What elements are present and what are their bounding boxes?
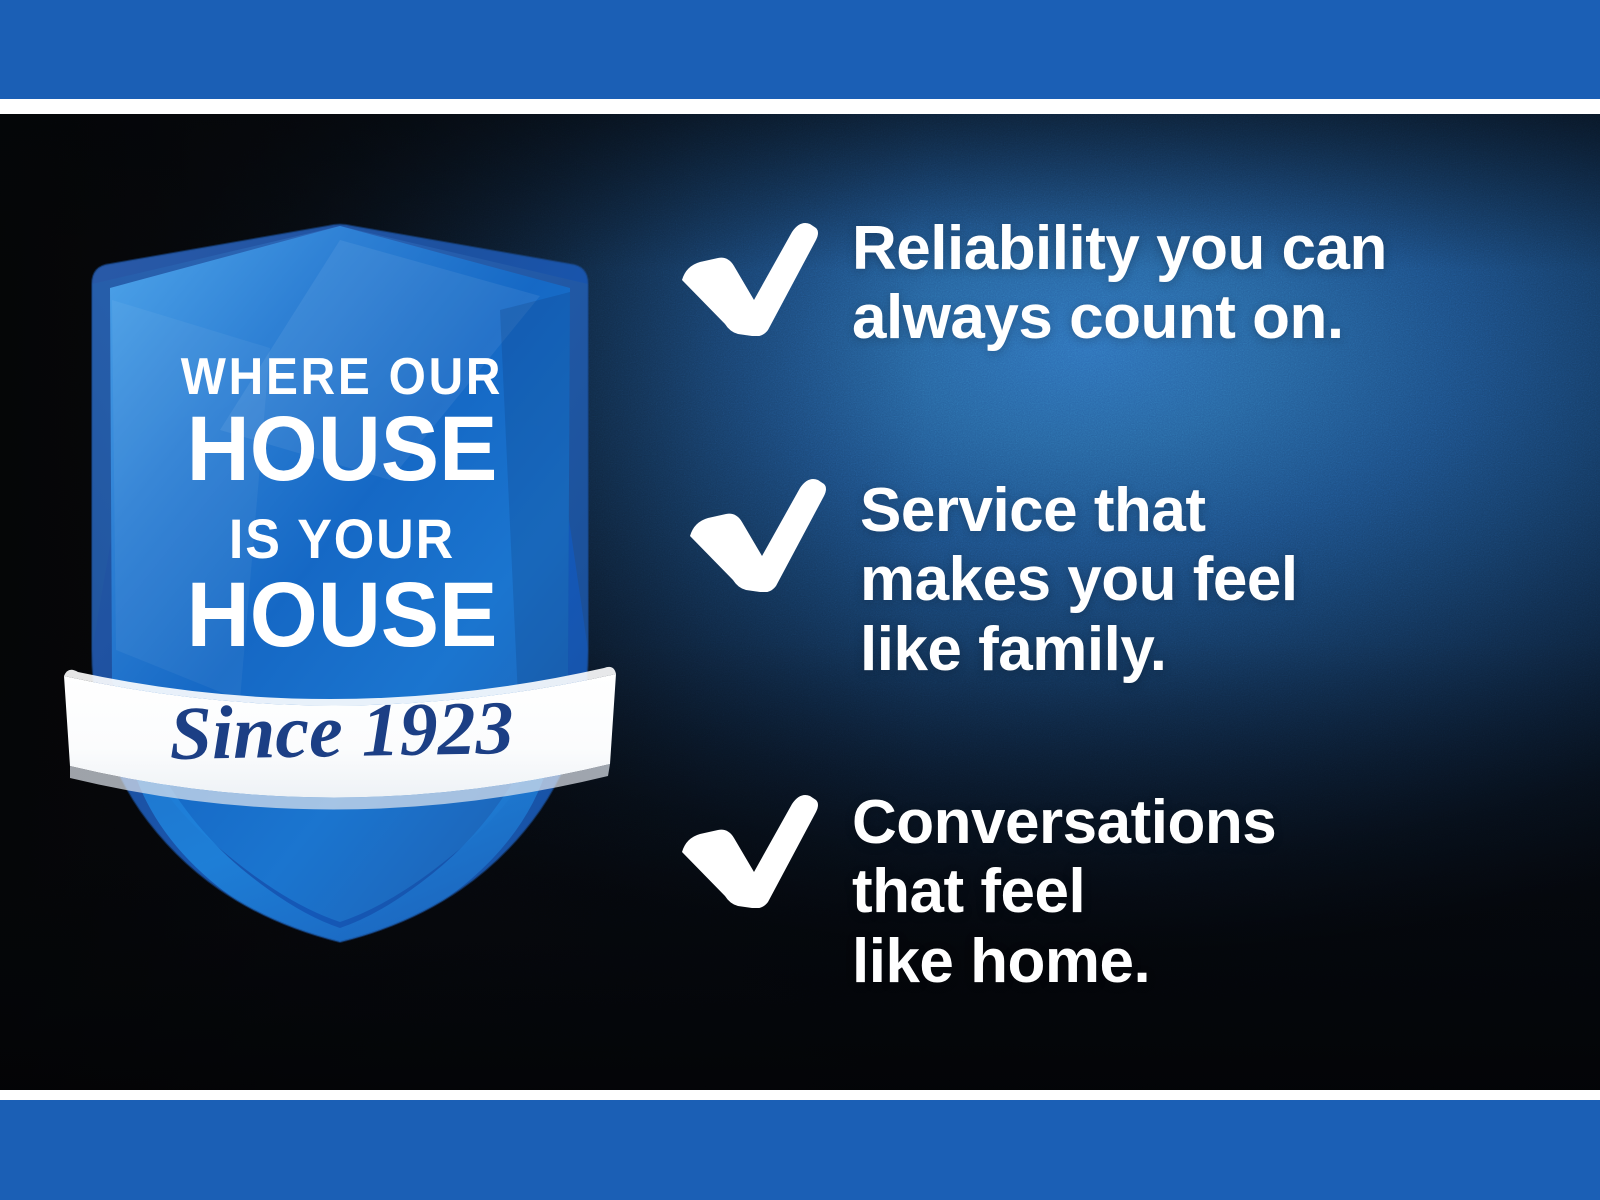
benefit-text-1: Reliability you can always count on.	[852, 214, 1387, 353]
benefit-text-3: Conversations that feel like home.	[852, 788, 1276, 996]
poster: WHERE OUR HOUSE IS YOUR HOUSE Since 1923…	[0, 0, 1600, 1200]
benefit-item-2: Service that makes you feel like family.	[684, 470, 1298, 684]
tagline-line-4: HOUSE	[187, 564, 498, 667]
shield-badge: WHERE OUR HOUSE IS YOUR HOUSE Since 1923	[70, 180, 610, 940]
tagline-line-3: IS YOUR	[229, 508, 455, 570]
top-brand-bar	[0, 0, 1600, 99]
benefit-item-3: Conversations that feel like home.	[676, 786, 1276, 996]
ribbon-banner: Since 1923	[64, 667, 616, 810]
tagline-line-1: WHERE OUR	[181, 347, 503, 405]
check-icon	[676, 218, 818, 336]
check-icon	[676, 790, 818, 908]
check-icon	[684, 474, 826, 592]
benefits-list: Reliability you can always count on. Ser…	[676, 114, 1536, 1090]
bottom-brand-bar	[0, 1100, 1600, 1200]
ribbon-text: Since 1923	[169, 686, 515, 776]
benefit-item-1: Reliability you can always count on.	[676, 214, 1387, 353]
benefit-text-2: Service that makes you feel like family.	[860, 476, 1298, 684]
tagline-line-2: HOUSE	[187, 398, 498, 501]
